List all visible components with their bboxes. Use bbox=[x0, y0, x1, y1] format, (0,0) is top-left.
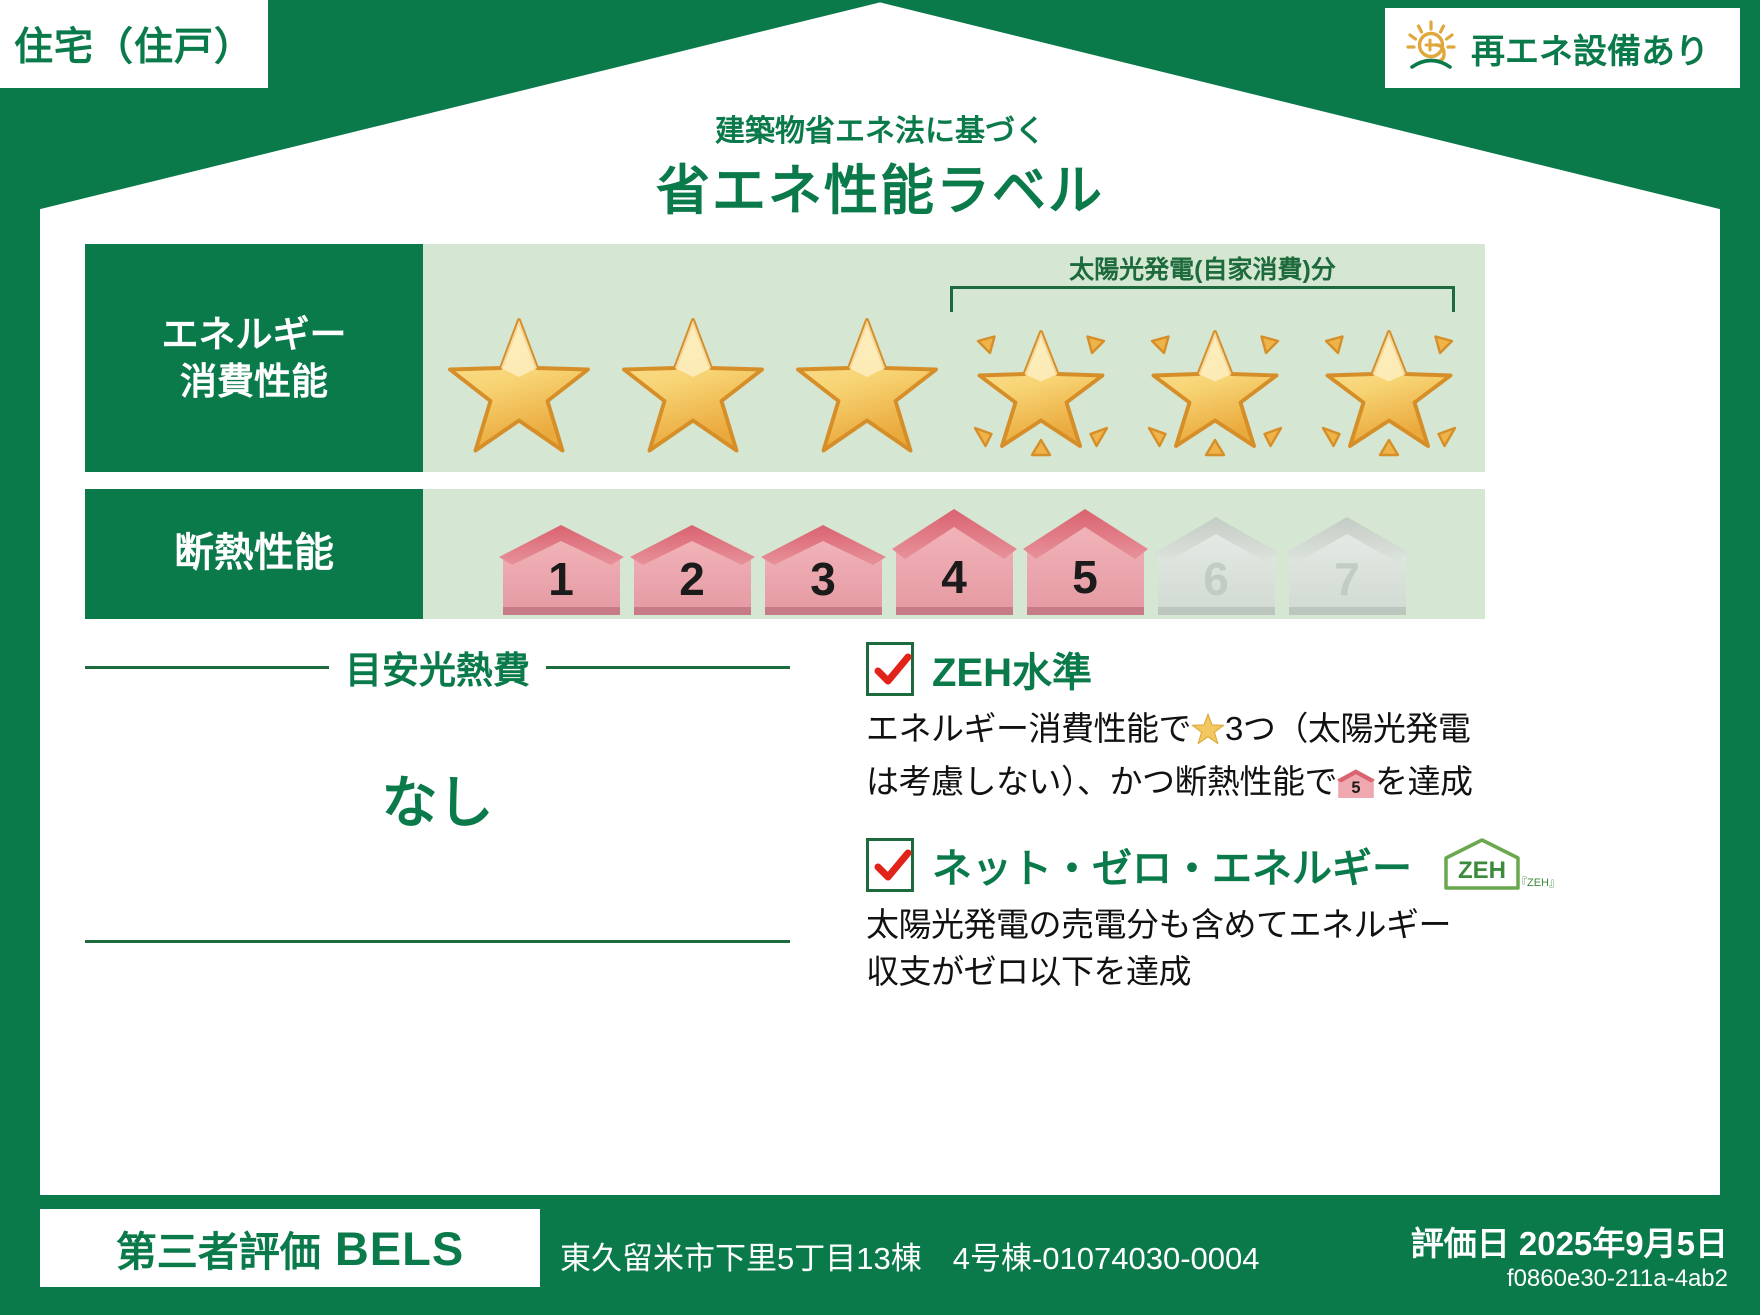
energy-performance-row: エネルギー 消費性能 太陽光発電(自家消費)分 bbox=[85, 244, 1485, 472]
insulation-grade-house: 2 bbox=[630, 523, 755, 615]
insulation-grade-house: 3 bbox=[761, 523, 886, 615]
energy-label-line2: 消費性能 bbox=[180, 358, 328, 405]
energy-label-line1: エネルギー bbox=[162, 311, 347, 358]
zeh-logo-icon: ZEH 『ZEH』 bbox=[1440, 836, 1558, 894]
category-chip-label: 住宅（住戸） bbox=[14, 16, 254, 72]
zeh-net-zero-title: ネット・ゼロ・エネルギー bbox=[932, 836, 1412, 894]
star-icon-solar bbox=[1314, 311, 1464, 461]
star-icon-solar bbox=[1140, 311, 1290, 461]
utility-cost-block: 目安光熱費 なし bbox=[85, 640, 790, 970]
star-icon-solar bbox=[966, 311, 1116, 461]
energy-performance-field: 太陽光発電(自家消費)分 bbox=[423, 244, 1485, 472]
bels-chip: 第三者評価 BELS bbox=[40, 1209, 540, 1287]
solar-annotation-label: 太陽光発電(自家消費)分 bbox=[950, 250, 1455, 286]
zeh-criteria-block: ZEH水準 エネルギー消費性能で3つ（太陽光発電 は考慮しない）、かつ断熱性能で… bbox=[866, 640, 1486, 1003]
svg-text:ZEH: ZEH bbox=[1458, 857, 1506, 884]
insulation-grade-house: 1 bbox=[499, 523, 624, 615]
svg-text:5: 5 bbox=[1351, 779, 1360, 797]
checkbox-checked[interactable] bbox=[866, 642, 914, 696]
inline-grade-badge: 5 bbox=[1337, 767, 1375, 814]
svg-text:1: 1 bbox=[548, 553, 574, 605]
evaluation-date: 評価日 2025年9月5日 bbox=[1411, 1217, 1728, 1265]
insulation-grade-house: 4 bbox=[892, 507, 1017, 615]
inline-star-icon bbox=[1191, 712, 1225, 759]
zeh-item-net-zero: ネット・ゼロ・エネルギー ZEH 『ZEH』 太陽光発電の売電分も含めてエネルギ… bbox=[866, 836, 1486, 996]
bels-chip-en-label: BELS bbox=[335, 1221, 464, 1276]
zeh-item-standard: ZEH水準 エネルギー消費性能で3つ（太陽光発電 は考慮しない）、かつ断熱性能で… bbox=[866, 640, 1486, 814]
zeh-desc-line1-a: エネルギー消費性能で bbox=[866, 710, 1191, 747]
zeh-net-zero-header: ネット・ゼロ・エネルギー ZEH 『ZEH』 bbox=[866, 836, 1486, 894]
zeh-desc-line1-b: 3つ（太陽光発電 bbox=[1225, 710, 1470, 747]
checkbox-checked[interactable] bbox=[866, 838, 914, 892]
svg-text:『ZEH』: 『ZEH』 bbox=[1516, 876, 1558, 889]
solar-annotation: 太陽光発電(自家消費)分 bbox=[950, 250, 1455, 312]
insulation-performance-row-label: 断熱性能 bbox=[85, 489, 423, 619]
utility-cost-value: なし bbox=[85, 758, 790, 839]
zeh-net-zero-description: 太陽光発電の売電分も含めてエネルギー 収支がゼロ以下を達成 bbox=[866, 902, 1486, 996]
star-icon bbox=[444, 311, 594, 461]
star-icon bbox=[618, 311, 768, 461]
renewable-equipment-badge: 再エネ設備あり bbox=[1385, 8, 1740, 88]
utility-cost-header: 目安光熱費 bbox=[85, 640, 790, 694]
svg-text:3: 3 bbox=[810, 553, 836, 605]
renewable-badge-label: 再エネ設備あり bbox=[1471, 24, 1709, 73]
zeh-desc-line2-a: は考慮しない）、かつ断熱性能で bbox=[866, 763, 1337, 800]
insulation-performance-field: 1 2 3 bbox=[423, 489, 1485, 619]
zeh-net-zero-line1: 太陽光発電の売電分も含めてエネルギー bbox=[866, 906, 1451, 943]
category-chip: 住宅（住戸） bbox=[0, 0, 268, 88]
insulation-label-text: 断熱性能 bbox=[174, 528, 334, 579]
insulation-grade-scale: 1 2 3 bbox=[423, 495, 1485, 615]
star-icon bbox=[792, 311, 942, 461]
zeh-net-zero-line2: 収支がゼロ以下を達成 bbox=[866, 953, 1191, 990]
evaluation-id: f0860e30-211a-4ab2 bbox=[1507, 1265, 1728, 1293]
energy-performance-label: 住宅（住戸） 再エネ設備あり 建築物省エネ法 bbox=[0, 0, 1760, 1315]
svg-text:4: 4 bbox=[941, 551, 967, 603]
svg-text:6: 6 bbox=[1203, 553, 1229, 605]
bels-chip-jp-label: 第三者評価 bbox=[116, 1218, 321, 1278]
zeh-standard-header: ZEH水準 bbox=[866, 640, 1486, 698]
zeh-standard-title: ZEH水準 bbox=[932, 640, 1092, 698]
rule-right bbox=[546, 666, 790, 669]
insulation-grade-house-achieved: 5 bbox=[1023, 507, 1148, 615]
property-address: 東久留米市下里5丁目13棟 4号棟-01074030-0004 bbox=[560, 1233, 1260, 1278]
rule-left bbox=[85, 666, 329, 669]
label-subtitle: 建築物省エネ法に基づく bbox=[0, 106, 1760, 150]
check-icon bbox=[873, 847, 913, 887]
star-rating bbox=[423, 306, 1485, 466]
svg-text:2: 2 bbox=[679, 553, 705, 605]
utility-cost-title: 目安光熱費 bbox=[345, 640, 530, 694]
insulation-grade-house-inactive: 7 bbox=[1285, 515, 1410, 615]
svg-text:7: 7 bbox=[1334, 553, 1360, 605]
insulation-grade-house-inactive: 6 bbox=[1154, 515, 1279, 615]
zeh-desc-line2-b: を達成 bbox=[1375, 763, 1473, 800]
check-icon bbox=[873, 651, 913, 691]
page-title: 省エネ性能ラベル bbox=[0, 146, 1760, 225]
solar-plug-icon bbox=[1403, 18, 1459, 79]
insulation-performance-row: 断熱性能 bbox=[85, 489, 1485, 619]
svg-text:5: 5 bbox=[1072, 551, 1098, 603]
label-footer: 第三者評価 BELS 東久留米市下里5丁目13棟 4号棟-01074030-00… bbox=[0, 1195, 1760, 1315]
utility-cost-bottom-rule bbox=[85, 940, 790, 943]
energy-performance-row-label: エネルギー 消費性能 bbox=[85, 244, 423, 472]
zeh-standard-description: エネルギー消費性能で3つ（太陽光発電 は考慮しない）、かつ断熱性能で5を達成 bbox=[866, 706, 1486, 814]
